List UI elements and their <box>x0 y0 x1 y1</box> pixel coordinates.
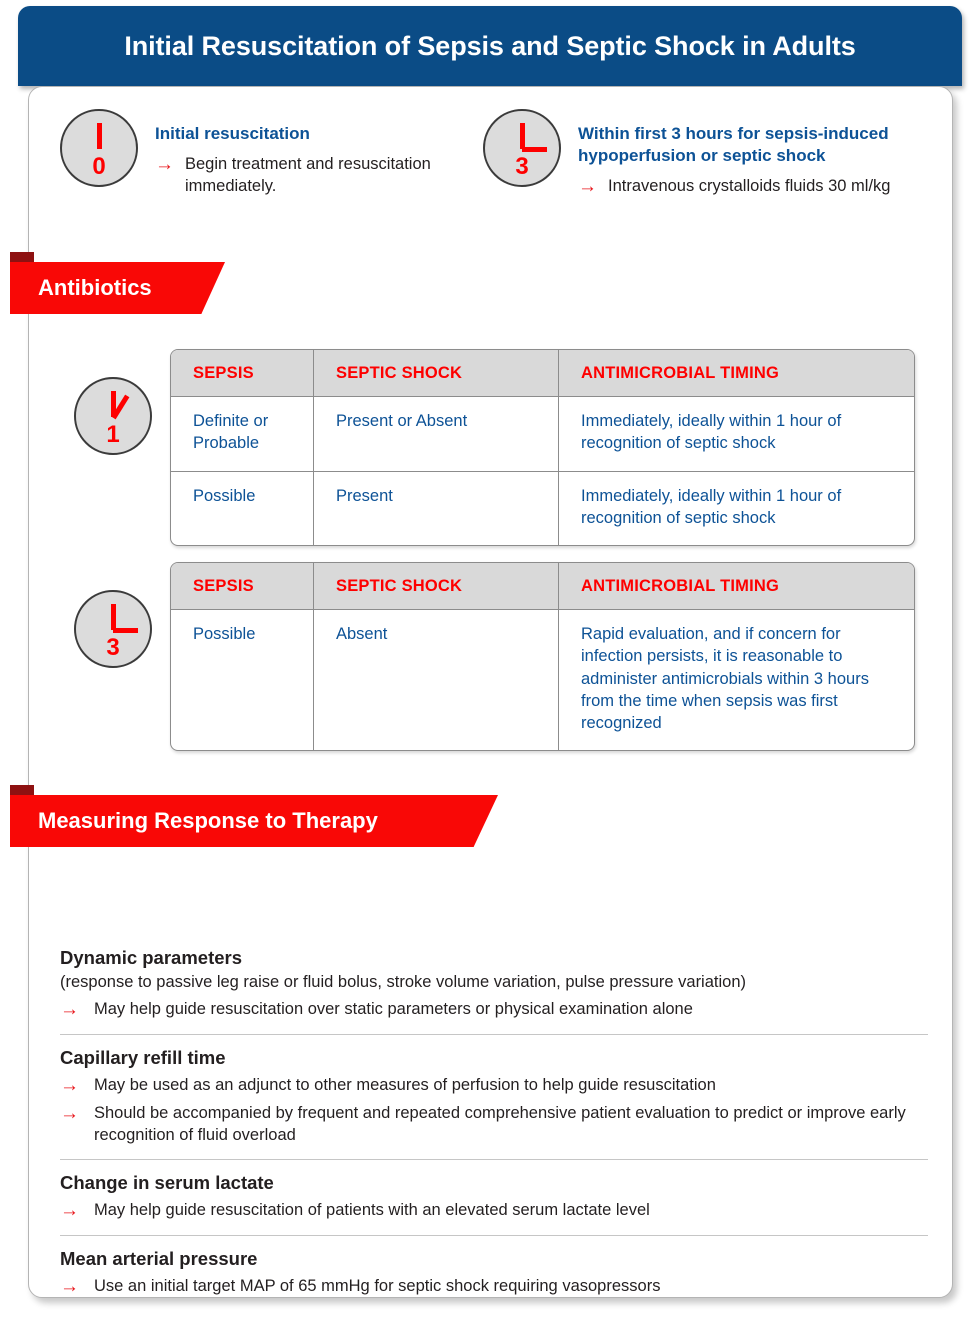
arrow-right-icon: → <box>155 154 185 198</box>
table-header-row: SEPSIS SEPTIC SHOCK ANTIMICROBIAL TIMING <box>171 350 914 397</box>
cell-sepsis: Definite or Probable <box>171 397 314 472</box>
list-item: → May help guide resuscitation over stat… <box>60 999 928 1021</box>
list-item: → Begin treatment and resuscitation imme… <box>155 154 459 198</box>
cell-septic-shock: Present <box>314 472 559 546</box>
clock-3-icon: 3 <box>74 590 152 668</box>
arrow-right-icon: → <box>60 1075 94 1097</box>
arrow-right-icon: → <box>60 1276 94 1298</box>
clock-number: 1 <box>76 423 150 447</box>
column-header-antimicrobial-timing: ANTIMICROBIAL TIMING <box>559 563 914 610</box>
clock-0-icon: 0 <box>60 109 138 187</box>
cell-septic-shock: Present or Absent <box>314 397 559 472</box>
clock-hand-minute <box>520 123 525 149</box>
column-header-septic-shock: SEPTIC SHOCK <box>314 563 559 610</box>
clock-number: 0 <box>62 155 136 179</box>
measure-group-dynamic-parameters: Dynamic parameters (response to passive … <box>60 947 928 1029</box>
table-header-row: SEPSIS SEPTIC SHOCK ANTIMICROBIAL TIMING <box>171 563 914 610</box>
three-hour-heading: Within first 3 hours for sepsis-induced … <box>578 123 939 167</box>
antibiotics-table-group-1: 1 SEPSIS SEPTIC SHOCK ANTIMICROBIAL TIMI… <box>60 349 915 546</box>
clock-3-icon: 3 <box>483 109 561 187</box>
table-row: Definite or Probable Present or Absent I… <box>171 397 914 472</box>
column-header-sepsis: SEPSIS <box>171 563 314 610</box>
measuring-response-section: Dynamic parameters (response to passive … <box>60 947 928 1305</box>
initial-resuscitation-text: Initial resuscitation → Begin treatment … <box>138 109 459 198</box>
cell-sepsis: Possible <box>171 610 314 750</box>
antimicrobial-timing-table-2: SEPSIS SEPTIC SHOCK ANTIMICROBIAL TIMING… <box>170 562 915 751</box>
cell-timing: Immediately, ideally within 1 hour of re… <box>559 397 914 472</box>
antimicrobial-timing-table-1: SEPSIS SEPTIC SHOCK ANTIMICROBIAL TIMING… <box>170 349 915 546</box>
three-hour-item: 3 Within first 3 hours for sepsis-induce… <box>459 87 939 198</box>
bullet-text: Should be accompanied by frequent and re… <box>94 1103 928 1147</box>
measure-title: Dynamic parameters <box>60 947 928 969</box>
clock-hand-hour <box>522 147 547 152</box>
three-hour-text: Within first 3 hours for sepsis-induced … <box>561 109 939 198</box>
clock-number: 3 <box>76 636 150 660</box>
list-item: → Intravenous crystalloids fluids 30 ml/… <box>578 176 939 198</box>
clock-1-icon: 1 <box>74 377 152 455</box>
bullet-text: May help guide resuscitation of patients… <box>94 1200 650 1222</box>
cell-septic-shock: Absent <box>314 610 559 750</box>
column-header-sepsis: SEPSIS <box>171 350 314 397</box>
page-title: Initial Resuscitation of Sepsis and Sept… <box>124 31 855 62</box>
bullet-text: Begin treatment and resuscitation immedi… <box>185 154 459 198</box>
bullet-text: Intravenous crystalloids fluids 30 ml/kg <box>608 176 890 198</box>
list-item: → Use an initial target MAP of 65 mmHg f… <box>60 1276 928 1298</box>
clock-number: 3 <box>485 155 559 179</box>
clock-wrapper: 3 <box>60 562 170 751</box>
measure-group-capillary-refill-time: Capillary refill time → May be used as a… <box>60 1034 928 1154</box>
column-header-antimicrobial-timing: ANTIMICROBIAL TIMING <box>559 350 914 397</box>
banner-measuring-response: Measuring Response to Therapy <box>10 795 510 847</box>
measure-title: Mean arterial pressure <box>60 1248 928 1270</box>
arrow-right-icon: → <box>60 1103 94 1147</box>
infographic-page: Initial Resuscitation of Sepsis and Sept… <box>0 0 980 1319</box>
table-row: Possible Absent Rapid evaluation, and if… <box>171 610 914 750</box>
measure-group-change-in-serum-lactate: Change in serum lactate → May help guide… <box>60 1159 928 1229</box>
bullet-text: Use an initial target MAP of 65 mmHg for… <box>94 1276 660 1298</box>
bullet-text: May help guide resuscitation over static… <box>94 999 693 1021</box>
header-bar: Initial Resuscitation of Sepsis and Sept… <box>18 6 962 86</box>
cell-sepsis: Possible <box>171 472 314 546</box>
arrow-right-icon: → <box>60 1200 94 1222</box>
cell-timing: Immediately, ideally within 1 hour of re… <box>559 472 914 546</box>
list-item: → Should be accompanied by frequent and … <box>60 1103 928 1147</box>
banner-label: Measuring Response to Therapy <box>38 795 378 847</box>
arrow-right-icon: → <box>60 999 94 1021</box>
table-row: Possible Present Immediately, ideally wi… <box>171 472 914 546</box>
clock-wrapper: 1 <box>60 349 170 546</box>
clock-hand-minute <box>97 123 102 149</box>
measure-subtitle: (response to passive leg raise or fluid … <box>60 972 928 993</box>
bullet-text: May be used as an adjunct to other measu… <box>94 1075 716 1097</box>
clock-hand-minute <box>111 604 116 630</box>
banner-antibiotics: Antibiotics <box>10 262 240 314</box>
banner-label: Antibiotics <box>38 262 152 314</box>
measure-title: Capillary refill time <box>60 1047 928 1069</box>
list-item: → May be used as an adjunct to other mea… <box>60 1075 928 1097</box>
cell-timing: Rapid evaluation, and if concern for inf… <box>559 610 914 750</box>
measure-title: Change in serum lactate <box>60 1172 928 1194</box>
measure-group-mean-arterial-pressure: Mean arterial pressure → Use an initial … <box>60 1235 928 1305</box>
arrow-right-icon: → <box>578 176 608 198</box>
initial-resuscitation-row: 0 Initial resuscitation → Begin treatmen… <box>29 87 954 198</box>
initial-resuscitation-heading: Initial resuscitation <box>155 123 459 145</box>
column-header-septic-shock: SEPTIC SHOCK <box>314 350 559 397</box>
antibiotics-table-group-2: 3 SEPSIS SEPTIC SHOCK ANTIMICROBIAL TIMI… <box>60 562 915 751</box>
list-item: → May help guide resuscitation of patien… <box>60 1200 928 1222</box>
initial-resuscitation-item: 0 Initial resuscitation → Begin treatmen… <box>29 87 459 198</box>
clock-hand-hour <box>113 628 138 633</box>
